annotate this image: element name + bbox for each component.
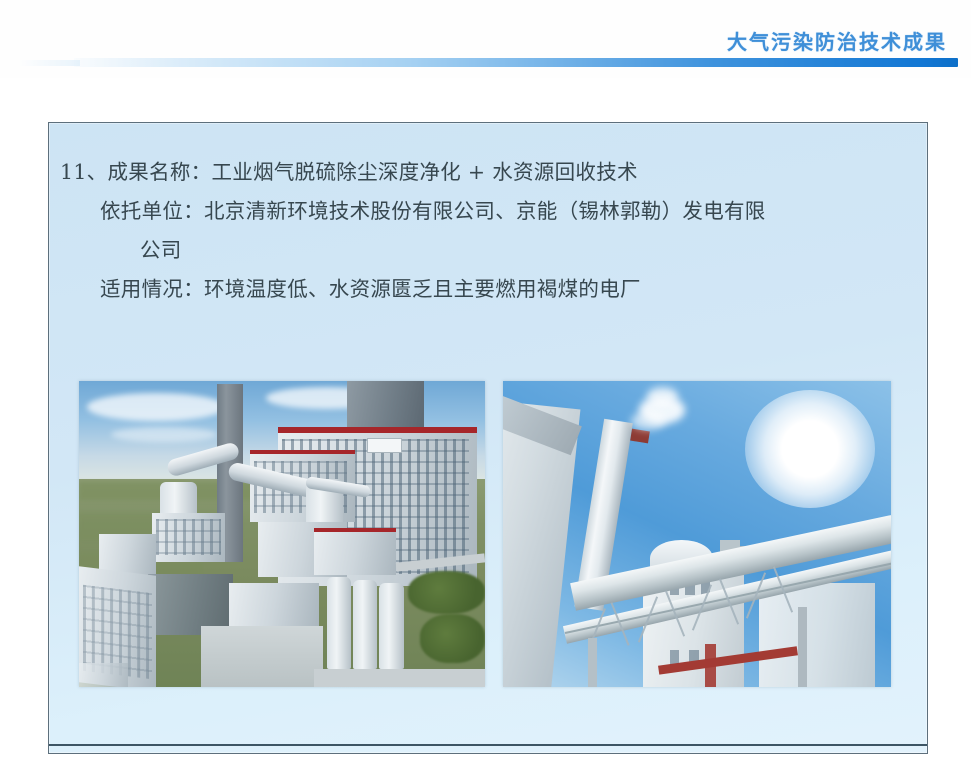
plant-block <box>314 532 395 575</box>
coal-silo <box>379 583 403 669</box>
plant-block <box>79 663 128 687</box>
plant-block <box>229 583 318 626</box>
page-header-title: 大气污染防治技术成果 <box>727 26 947 55</box>
side-building <box>759 583 875 687</box>
sun-glare-icon <box>745 390 875 508</box>
achievement-text-block: 11、成果名称：工业烟气脱硫除尘深度净化 + 水资源回收技术 依托单位：北京清新… <box>60 153 905 309</box>
greenery <box>420 614 485 663</box>
window-grid <box>156 519 221 556</box>
figure-power-plant-aerial <box>79 381 485 687</box>
header-rule-gradient-icon <box>74 58 958 67</box>
slide-content-frame: 11、成果名称：工业烟气脱硫除尘深度净化 + 水资源回收技术 依托单位：北京清新… <box>48 122 928 754</box>
steam-plume <box>631 412 666 430</box>
cloud-shape <box>111 427 217 442</box>
red-beam <box>705 644 717 687</box>
cloud-shape <box>87 393 225 421</box>
support-column <box>798 607 807 687</box>
plant-yard <box>201 626 323 687</box>
boiler-house-upper <box>347 381 424 430</box>
supporting-unit-line-2: 公司 <box>60 231 905 270</box>
stack-top-band <box>630 429 650 444</box>
coal-silo <box>353 580 377 669</box>
support-column <box>588 638 597 687</box>
header-rule-fade <box>18 60 80 66</box>
greenery <box>408 571 485 614</box>
coal-silo <box>327 577 351 669</box>
slide-section-divider <box>49 744 927 746</box>
achievement-title-line: 11、成果名称：工业烟气脱硫除尘深度净化 + 水资源回收技术 <box>60 153 905 192</box>
applicable-conditions-line: 适用情况：环境温度低、水资源匮乏且主要燃用褐煤的电厂 <box>60 270 905 309</box>
access-road <box>314 669 485 687</box>
wall-signboard <box>367 438 401 454</box>
figure-stack-low-angle <box>503 381 891 687</box>
page-header: 大气污染防治技术成果 <box>0 0 971 78</box>
steam-plume <box>647 387 678 405</box>
supporting-unit-line-1: 依托单位：北京清新环境技术股份有限公司、京能（锡林郭勒）发电有限 <box>60 192 905 231</box>
